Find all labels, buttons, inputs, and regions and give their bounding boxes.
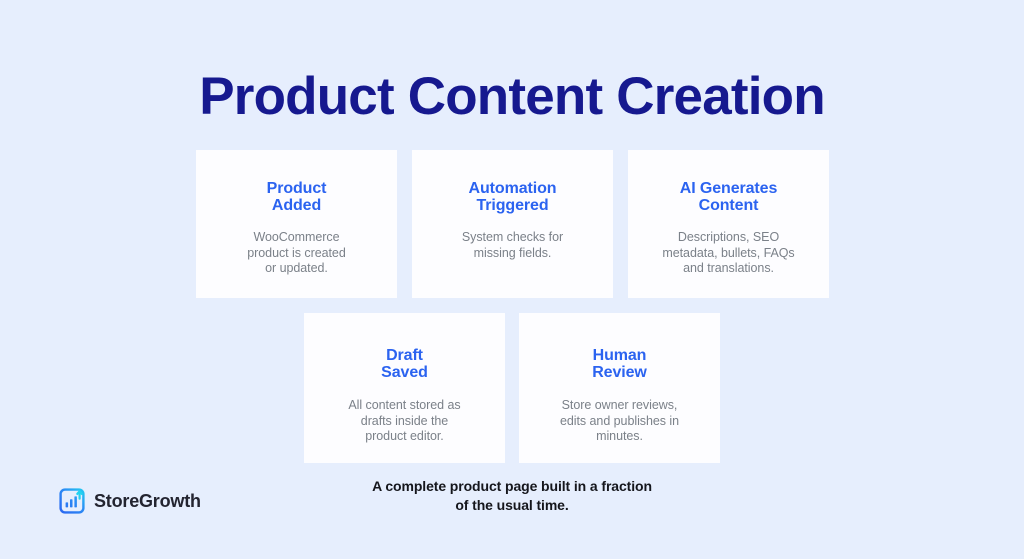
- step-card-title: Human Review: [592, 348, 647, 381]
- infographic-canvas: Product Content Creation Product Added W…: [0, 0, 1024, 559]
- step-card-human-review: Human Review Store owner reviews, edits …: [519, 313, 720, 463]
- brand-lockup: StoreGrowth: [59, 487, 201, 515]
- step-card-title: AI Generates Content: [680, 181, 778, 214]
- step-card-description: All content stored as drafts inside the …: [348, 398, 460, 445]
- step-card-description: Store owner reviews, edits and publishes…: [560, 398, 679, 445]
- brand-name: StoreGrowth: [94, 488, 201, 514]
- step-card-product-added: Product Added WooCommerce product is cre…: [196, 150, 397, 298]
- step-card-title: Draft Saved: [381, 348, 428, 381]
- step-card-description: System checks for missing fields.: [462, 230, 563, 261]
- bar-chart-growth-icon: [59, 488, 85, 514]
- step-card-title: Automation Triggered: [469, 181, 557, 214]
- step-card-description: WooCommerce product is created or update…: [247, 230, 345, 277]
- page-title: Product Content Creation: [0, 66, 1024, 128]
- step-card-title: Product Added: [267, 181, 327, 214]
- step-card-description: Descriptions, SEO metadata, bullets, FAQ…: [662, 230, 794, 277]
- step-card-automation-triggered: Automation Triggered System checks for m…: [412, 150, 613, 298]
- step-card-draft-saved: Draft Saved All content stored as drafts…: [304, 313, 505, 463]
- step-card-ai-generates-content: AI Generates Content Descriptions, SEO m…: [628, 150, 829, 298]
